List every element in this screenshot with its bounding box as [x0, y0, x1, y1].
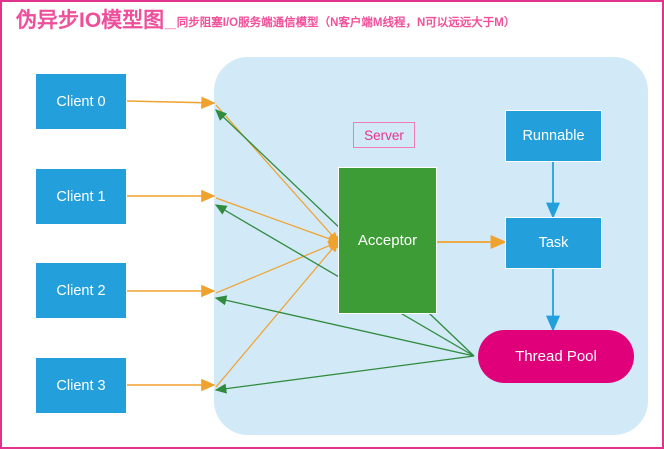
- client-request-arrows: [127, 101, 214, 385]
- thread-pool-label: Thread Pool: [515, 348, 597, 365]
- client-label: Client 0: [56, 94, 105, 110]
- task-label: Task: [539, 235, 569, 251]
- client-box-1[interactable]: Client 1: [35, 168, 127, 225]
- thread-pool-box[interactable]: Thread Pool: [478, 330, 634, 383]
- client-label: Client 3: [56, 378, 105, 394]
- client-label: Client 1: [56, 189, 105, 205]
- client-box-2[interactable]: Client 2: [35, 262, 127, 319]
- runnable-label: Runnable: [522, 128, 584, 144]
- page-title: 伪异步IO模型图: [16, 10, 164, 31]
- client-label: Client 2: [56, 283, 105, 299]
- diagram-page: 伪异步IO模型图 _ 同步阻塞I/O服务端通信模型（N客户端M线程，N可以远远大…: [0, 0, 664, 449]
- acceptor-label: Acceptor: [358, 232, 417, 249]
- server-label-text: Server: [364, 128, 404, 143]
- client-box-0[interactable]: Client 0: [35, 73, 127, 130]
- title-separator: _: [165, 11, 176, 33]
- server-label: Server: [353, 122, 415, 148]
- header: 伪异步IO模型图 _ 同步阻塞I/O服务端通信模型（N客户端M线程，N可以远远大…: [16, 10, 515, 33]
- client-box-3[interactable]: Client 3: [35, 357, 127, 414]
- acceptor-box[interactable]: Acceptor: [338, 167, 437, 314]
- runnable-box[interactable]: Runnable: [505, 110, 602, 162]
- page-subtitle: 同步阻塞I/O服务端通信模型（N客户端M线程，N可以远远大于M）: [177, 18, 516, 30]
- task-box[interactable]: Task: [505, 217, 602, 269]
